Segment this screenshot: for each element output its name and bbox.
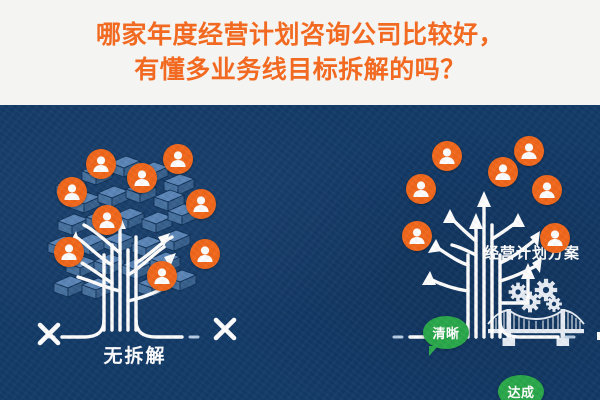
poster-root: 哪家年度经营计划咨询公司比较好， 有懂多业务线目标拆解的吗？ xyxy=(0,0,600,400)
person-badge xyxy=(186,189,216,219)
center-panel: 经营计划方案 xyxy=(230,105,390,400)
left-panel-caption: 无拆解 xyxy=(45,341,225,368)
status-bubble-clear: 清晰 xyxy=(423,316,469,349)
person-badge xyxy=(532,175,562,205)
person-badge xyxy=(92,205,122,235)
person-badge xyxy=(514,136,544,166)
title-line-2: 有懂多业务线目标拆解的吗？ xyxy=(134,54,466,87)
person-badge xyxy=(488,157,518,187)
title-line-1: 哪家年度经营计划咨询公司比较好， xyxy=(96,19,504,52)
person-badge xyxy=(57,177,87,207)
right-panel: 有拆解 xyxy=(380,105,600,400)
person-badge xyxy=(540,223,570,253)
status-bubble-achieve: 达成 xyxy=(498,375,544,400)
person-badge xyxy=(163,144,193,174)
person-badge xyxy=(147,261,177,291)
person-badge xyxy=(86,149,116,179)
person-badge xyxy=(127,163,157,193)
title-band: 哪家年度经营计划咨询公司比较好， 有懂多业务线目标拆解的吗？ xyxy=(0,0,600,105)
person-badge xyxy=(406,174,436,204)
left-panel: 无拆解 xyxy=(0,105,250,400)
person-badge xyxy=(432,141,462,171)
illustration-stage: 无拆解 xyxy=(0,105,600,400)
person-badge xyxy=(54,237,84,267)
person-badge xyxy=(190,239,220,269)
person-badge xyxy=(402,221,432,251)
